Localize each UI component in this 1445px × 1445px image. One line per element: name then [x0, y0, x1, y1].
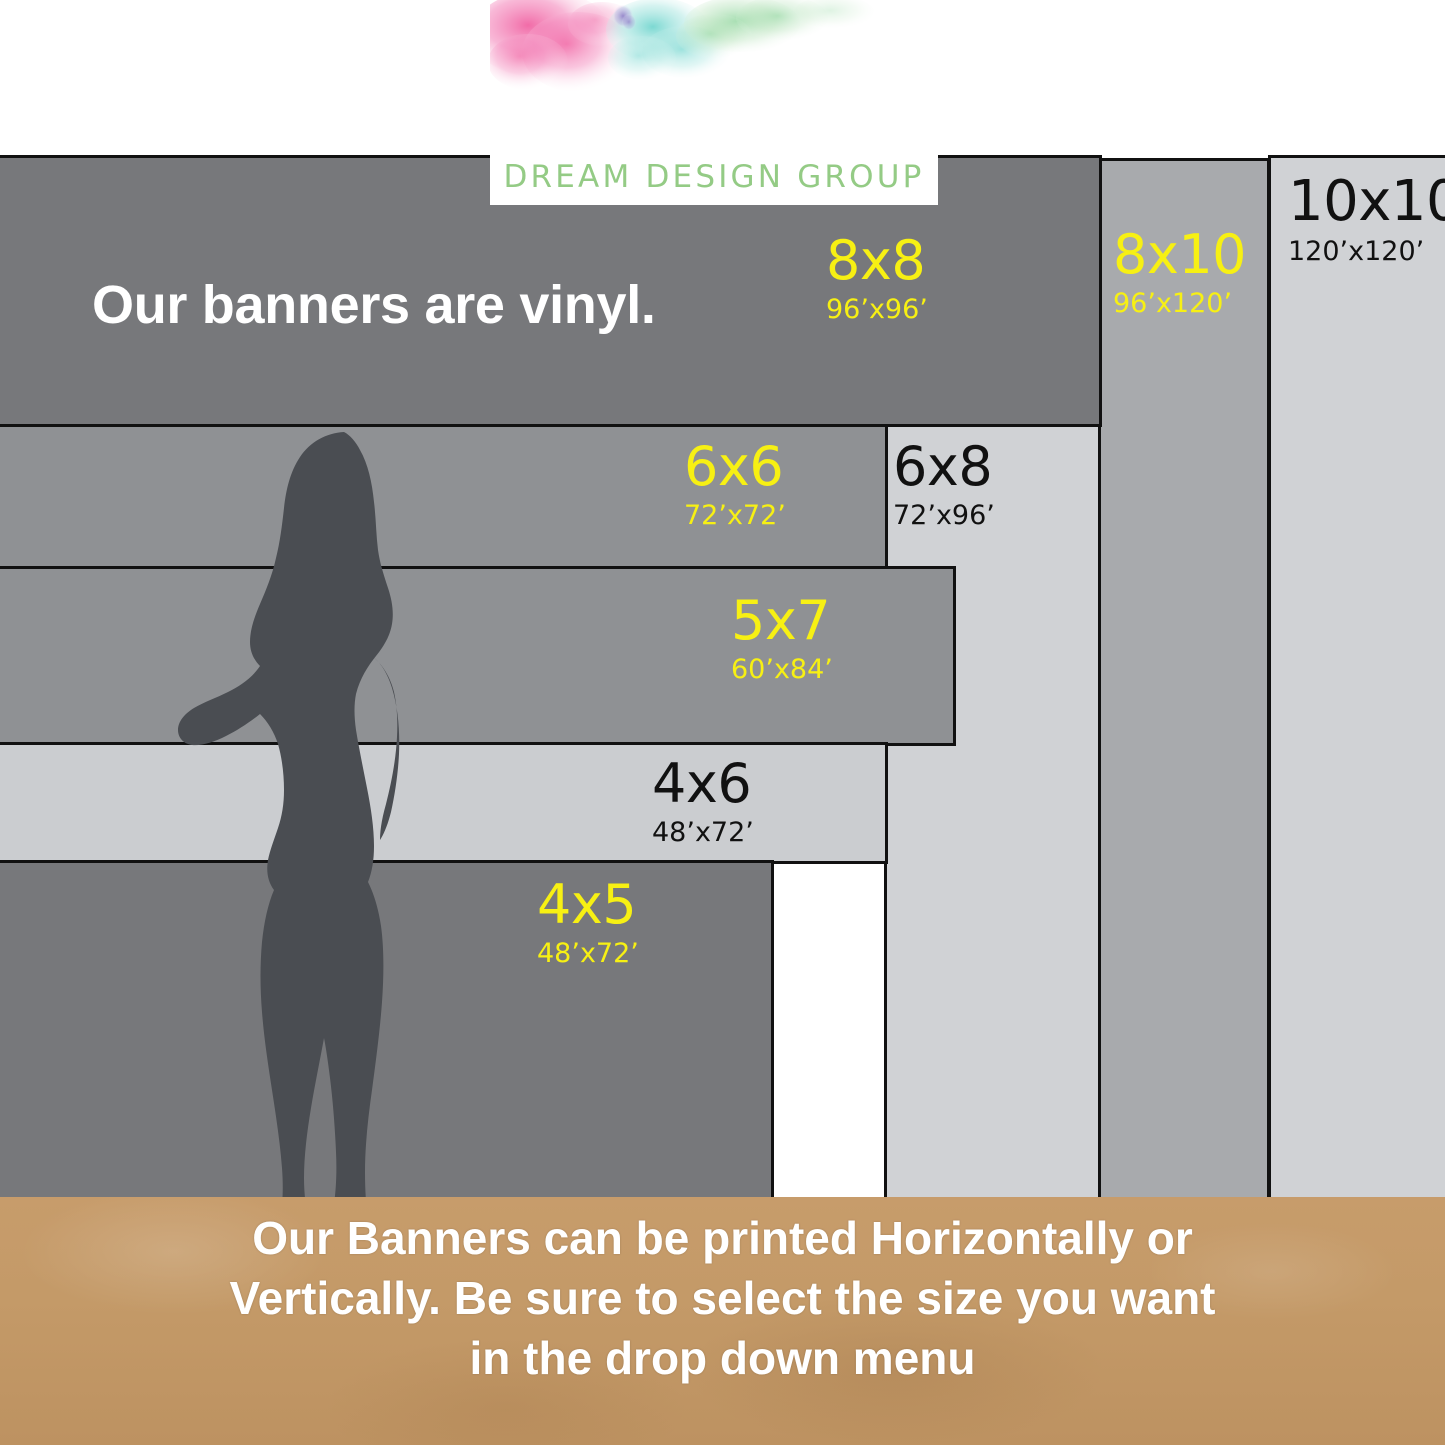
page-title: Our banners are vinyl. — [92, 274, 656, 336]
size-label-8x8-title: 8x8 — [826, 234, 928, 288]
size-label-8x10: 8x10 96’x120’ — [1113, 228, 1246, 317]
size-label-8x10-dims: 96’x120’ — [1113, 290, 1246, 317]
size-label-8x8: 8x8 96’x96’ — [826, 234, 928, 323]
size-label-4x5-dims: 48’x72’ — [537, 940, 639, 967]
size-label-6x8-title: 6x8 — [893, 440, 995, 494]
size-label-6x8: 6x8 72’x96’ — [893, 440, 995, 529]
size-label-6x6: 6x6 72’x72’ — [684, 440, 786, 529]
size-label-10x10-title: 10x10 — [1288, 174, 1445, 230]
size-label-10x10: 10x10 120’x120’ — [1288, 174, 1445, 265]
size-label-6x6-title: 6x6 — [684, 440, 786, 494]
banner-block-4x6[interactable] — [0, 742, 888, 864]
footer-banner: Our Banners can be printed Horizontally … — [0, 1197, 1445, 1445]
size-label-6x6-dims: 72’x72’ — [684, 502, 786, 529]
banner-size-chart: Our banners are vinyl. 10x10 120’x120’ 8… — [0, 0, 1445, 1445]
banner-block-6x8[interactable] — [884, 424, 1102, 1200]
brand-logo: DREAM DESIGN GROUP — [490, 0, 938, 205]
size-label-6x8-dims: 72’x96’ — [893, 502, 995, 529]
size-label-5x7-title: 5x7 — [731, 594, 833, 648]
footer-message: Our Banners can be printed Horizontally … — [0, 1209, 1445, 1388]
size-label-8x8-dims: 96’x96’ — [826, 296, 928, 323]
size-label-4x5: 4x5 48’x72’ — [537, 878, 639, 967]
size-label-4x6-dims: 48’x72’ — [652, 819, 754, 846]
size-label-4x6: 4x6 48’x72’ — [652, 757, 754, 846]
brand-name: DREAM DESIGN GROUP — [490, 152, 938, 202]
footer-line-3: in the drop down menu — [0, 1329, 1445, 1389]
footer-line-1: Our Banners can be printed Horizontally … — [0, 1209, 1445, 1269]
size-label-5x7-dims: 60’x84’ — [731, 656, 833, 683]
size-label-10x10-dims: 120’x120’ — [1288, 238, 1445, 265]
footer-line-2: Vertically. Be sure to select the size y… — [0, 1269, 1445, 1329]
banner-block-4x5[interactable] — [0, 860, 774, 1202]
size-label-5x7: 5x7 60’x84’ — [731, 594, 833, 683]
size-label-4x6-title: 4x6 — [652, 757, 754, 811]
banner-block-10x10[interactable] — [1268, 155, 1445, 1200]
size-label-8x10-title: 8x10 — [1113, 228, 1246, 282]
watercolor-splash-icon — [490, 0, 938, 122]
size-label-4x5-title: 4x5 — [537, 878, 639, 932]
